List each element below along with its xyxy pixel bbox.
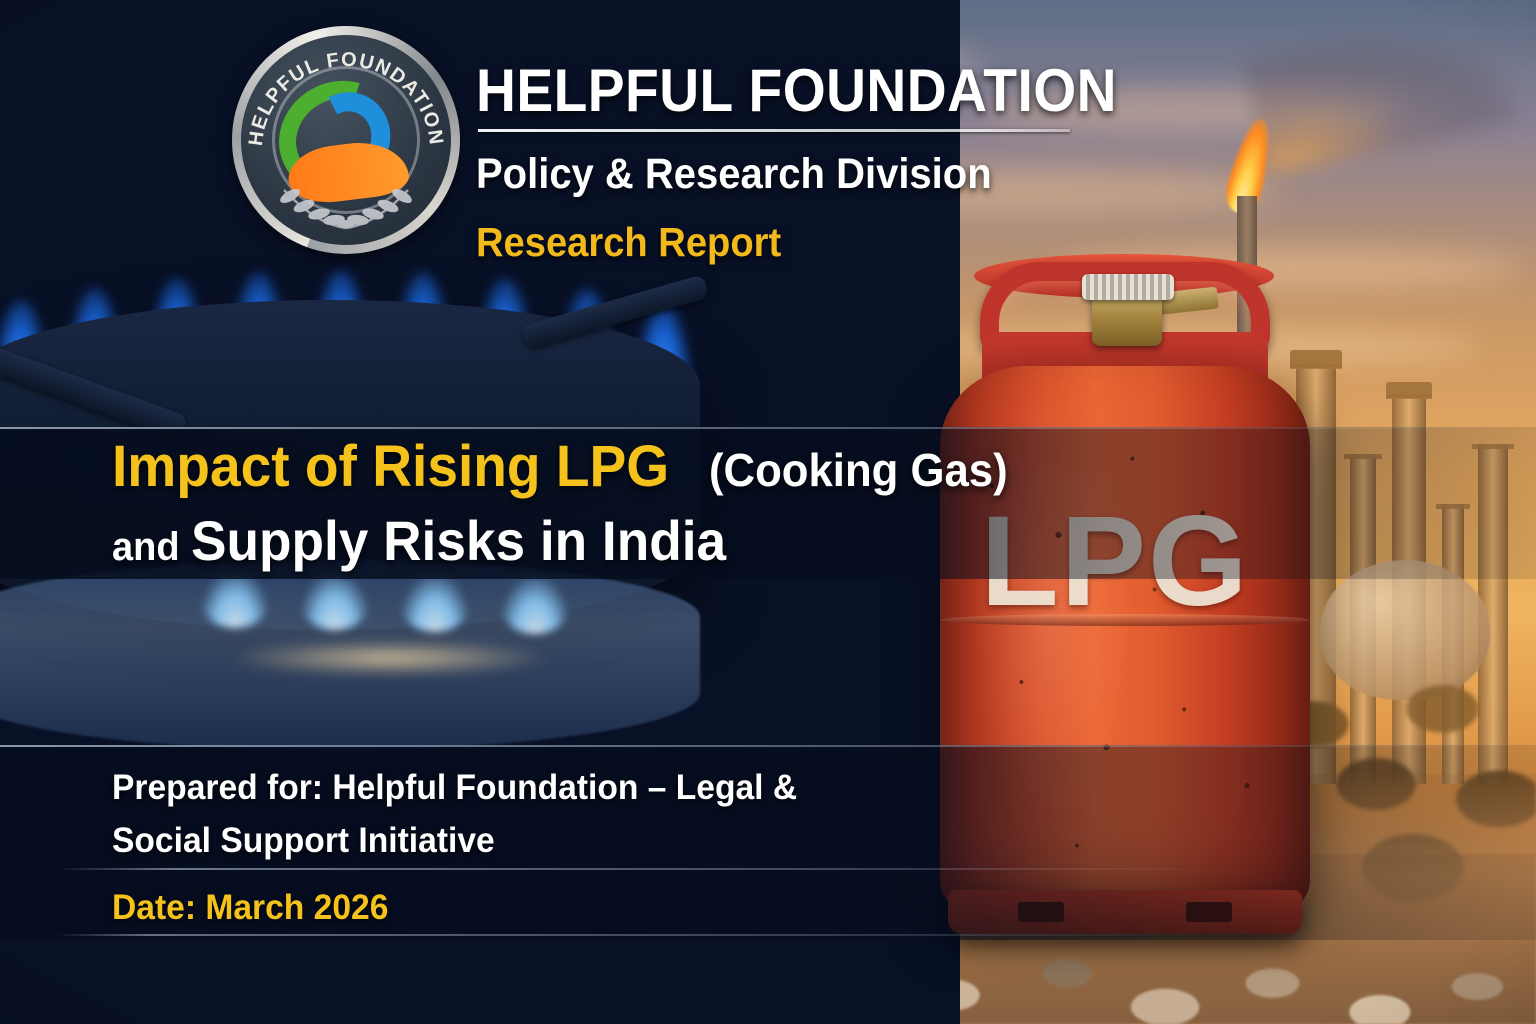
cylinder-valve-cap [1082, 274, 1174, 300]
title-band-top-edge [0, 427, 1536, 429]
report-title-conjunction: and [112, 525, 180, 570]
footer-bottom-divider [56, 934, 1216, 936]
report-title-subject: Supply Risks in India [191, 508, 726, 573]
logo-laurel-wreath [276, 180, 416, 236]
report-cover: LPG HELPFUL FOUNDATION [0, 0, 1536, 1024]
report-title-line-2: andSupply Risks in India [112, 508, 754, 573]
burner-flame-core [400, 574, 470, 632]
header-divider [478, 129, 1070, 132]
footer-band-top-edge [0, 745, 1536, 747]
refinery-tower-cap [1386, 382, 1432, 398]
document-type: Research Report [476, 219, 781, 266]
pot-highlight [230, 640, 550, 676]
report-title-highlight: Impact of Rising LPG [112, 433, 669, 500]
organization-name: HELPFUL FOUNDATION [476, 56, 1117, 125]
prepared-for-text: Prepared for: Helpful Foundation – Legal… [112, 761, 880, 867]
burner-flame-core [300, 572, 370, 630]
foundation-logo: HELPFUL FOUNDATION [232, 26, 460, 254]
division-name: Policy & Research Division [476, 150, 992, 199]
report-title-parenthetical: (Cooking Gas) [709, 443, 1008, 497]
report-title-line-1: Impact of Rising LPG(Cooking Gas) [112, 433, 1023, 500]
footer-divider [56, 868, 1216, 870]
report-date: Date: March 2026 [112, 888, 388, 928]
burner-flame-core [500, 576, 570, 634]
